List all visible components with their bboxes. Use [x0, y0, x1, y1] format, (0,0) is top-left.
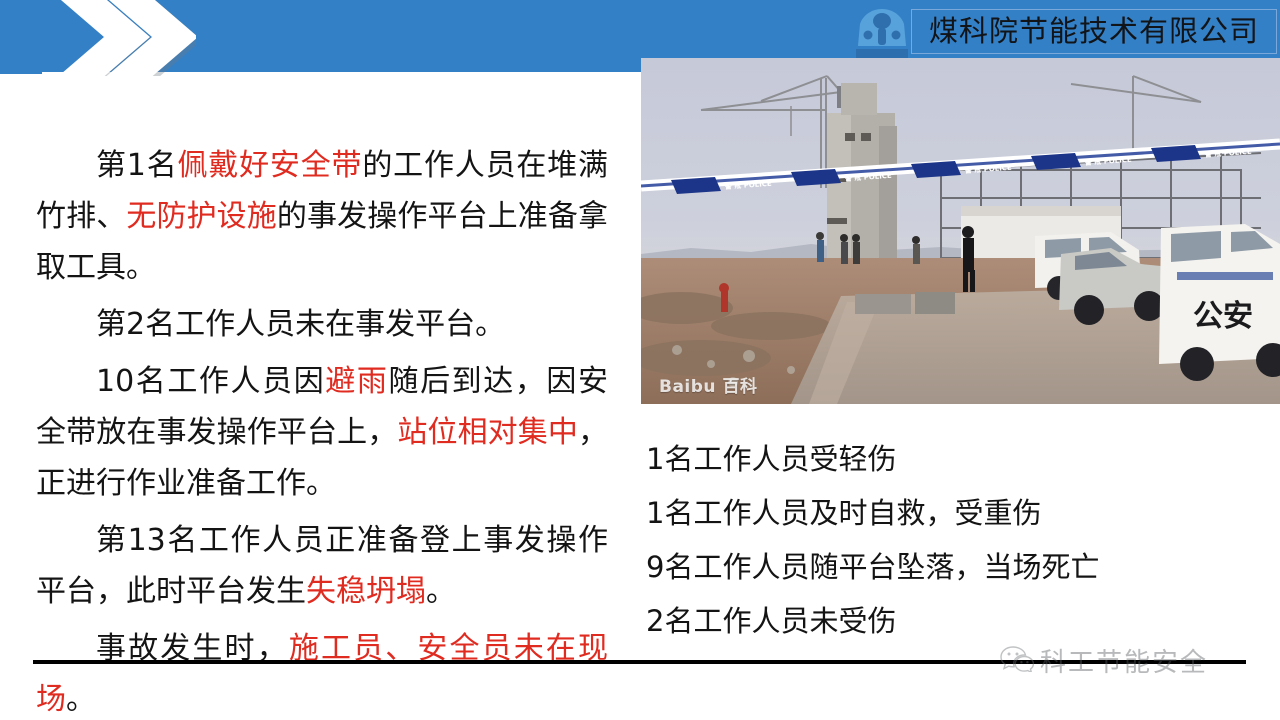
- incident-narrative: 第1名佩戴好安全带的工作人员在堆满竹排、无防护设施的事发操作平台上准备拿取工具。…: [36, 140, 608, 720]
- narrative-paragraph: 第1名佩戴好安全带的工作人员在堆满竹排、无防护设施的事发操作平台上准备拿取工具。: [36, 140, 608, 293]
- slide-root: 煤科院节能技术有限公司: [0, 0, 1280, 720]
- casualty-summary-list: 1名工作人员受轻伤 1名工作人员及时自救，受重伤 9名工作人员随平台坠落，当场死…: [646, 432, 1266, 648]
- svg-text:公安: 公安: [1193, 299, 1253, 334]
- plain-text: 第2名工作人员未在事发平台。: [96, 307, 505, 342]
- casualty-list-item: 9名工作人员随平台坠落，当场死亡: [646, 540, 1266, 594]
- company-title-box: 煤科院节能技术有限公司: [911, 9, 1277, 54]
- casualty-list-item: 1名工作人员及时自救，受重伤: [646, 486, 1266, 540]
- narrative-paragraph: 10名工作人员因避雨随后到达，因安全带放在事发操作平台上，站位相对集中，正进行作…: [36, 356, 608, 509]
- narrative-paragraph: 第13名工作人员正准备登上事发操作平台，此时平台发生失稳坍塌。: [36, 515, 608, 617]
- footer-watermark: 科工节能安全: [1000, 642, 1208, 679]
- wechat-icon: [1000, 644, 1034, 677]
- highlighted-text: 失稳坍塌: [306, 574, 426, 609]
- casualty-list-item: 2名工作人员未受伤: [646, 594, 1266, 648]
- highlighted-text: 无防护设施: [126, 199, 277, 234]
- header-band-notch: [0, 58, 42, 74]
- footer-watermark-text: 科工节能安全: [1040, 642, 1208, 679]
- highlighted-text: 佩戴好安全带: [178, 148, 363, 183]
- casualty-list-item: 1名工作人员受轻伤: [646, 432, 1266, 486]
- plain-text: 。: [66, 682, 96, 717]
- china-coal-emblem-icon: [852, 4, 912, 62]
- highlighted-text: 站位相对集中: [397, 415, 578, 450]
- plain-text: 第1名: [96, 148, 178, 183]
- narrative-paragraph: 事故发生时，施工员、安全员未在现场。: [36, 623, 608, 720]
- plain-text: 10名工作人员因: [96, 364, 325, 399]
- highlighted-text: 避雨: [325, 364, 388, 399]
- accident-site-photo: 警 戒 POLICE 警 戒 POLICE 警 戒 POLICE 警 戒 POL…: [641, 58, 1280, 404]
- photo-watermark: Baibu 百科: [659, 372, 757, 397]
- plain-text: 。: [426, 574, 456, 609]
- double-chevron-right-icon: [46, 0, 196, 76]
- narrative-paragraph: 第2名工作人员未在事发平台。: [36, 299, 608, 350]
- company-title: 煤科院节能技术有限公司: [929, 17, 1259, 46]
